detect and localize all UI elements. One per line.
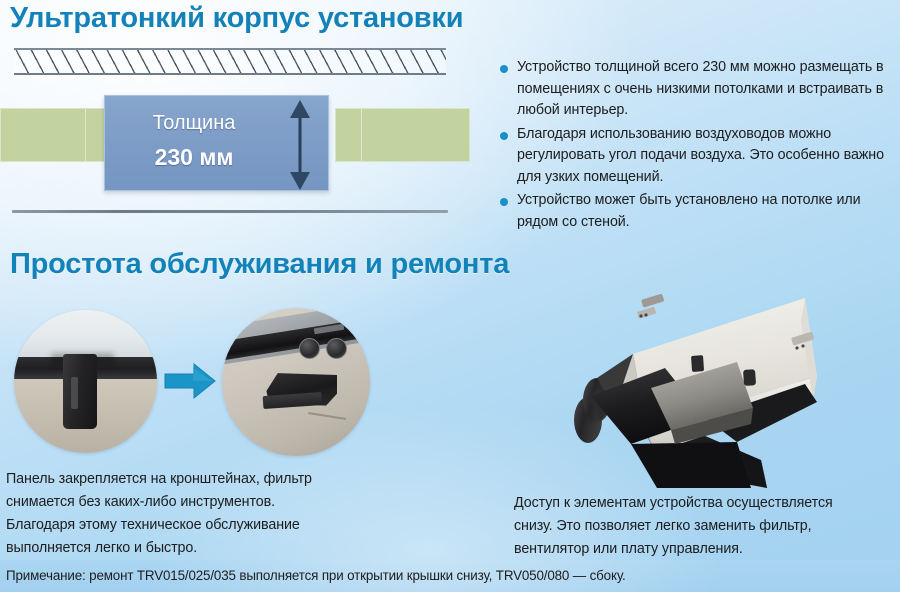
slide-canvas: Ультратонкий корпус установки Толщина 23… bbox=[0, 0, 900, 592]
bullet-dot-icon bbox=[500, 132, 508, 140]
list-item: Благодаря использованию воздуховодов мож… bbox=[500, 124, 892, 189]
section-heading-ultrathin: Ультратонкий корпус установки bbox=[10, 2, 463, 35]
list-item: Устройство толщиной всего 230 мм можно р… bbox=[500, 57, 892, 122]
caption-line: Панель закрепляется на кронштейнах, филь… bbox=[6, 468, 426, 491]
floor-line bbox=[12, 210, 448, 213]
photo-knob bbox=[299, 338, 320, 359]
bullet-text: Устройство толщиной всего 230 мм можно р… bbox=[517, 57, 892, 122]
service-caption-left: Панель закрепляется на кронштейнах, филь… bbox=[6, 468, 426, 560]
thickness-double-arrow-icon bbox=[285, 100, 315, 190]
caption-line: Доступ к элементам устройства осуществля… bbox=[514, 492, 894, 515]
section-heading-service: Простота обслуживания и ремонта bbox=[10, 248, 509, 281]
ultrathin-bullet-list: Устройство толщиной всего 230 мм можно р… bbox=[500, 57, 892, 235]
bullet-dot-icon bbox=[500, 198, 508, 206]
thickness-label: Толщина bbox=[119, 110, 269, 136]
bullet-dot-icon bbox=[500, 65, 508, 73]
photo-clip-notch bbox=[71, 377, 78, 408]
caption-line: снизу. Это позволяет легко заменить филь… bbox=[514, 515, 894, 538]
air-duct-left bbox=[0, 108, 120, 162]
air-duct-right bbox=[335, 108, 470, 162]
unit-thickness-box: Толщина 230 мм bbox=[104, 95, 329, 191]
panel-bracket-closed-photo bbox=[14, 310, 157, 453]
caption-line: Благодаря этому техническое обслуживание bbox=[6, 514, 426, 537]
ventilation-unit-photo bbox=[505, 292, 895, 492]
duct-seam bbox=[85, 109, 86, 161]
footnote-text: Примечание: ремонт TRV015/025/035 выполн… bbox=[6, 566, 626, 586]
service-caption-right: Доступ к элементам устройства осуществля… bbox=[514, 492, 894, 561]
bullet-text: Устройство может быть установлено на пот… bbox=[517, 190, 892, 233]
caption-line: вентилятор или плату управления. bbox=[514, 538, 894, 561]
list-item: Устройство может быть установлено на пот… bbox=[500, 190, 892, 233]
photo-knob bbox=[326, 338, 347, 359]
flow-arrow-icon bbox=[163, 362, 217, 400]
duct-seam bbox=[361, 109, 362, 161]
thickness-diagram: Толщина 230 мм bbox=[0, 42, 470, 220]
caption-line: снимается без каких-либо инструментов. bbox=[6, 491, 426, 514]
panel-bracket-open-photo bbox=[222, 308, 370, 456]
caption-line: выполняется легко и быстро. bbox=[6, 537, 426, 560]
photo-bracket-clip bbox=[63, 354, 97, 428]
thickness-value: 230 мм bbox=[119, 143, 269, 171]
bullet-text: Благодаря использованию воздуховодов мож… bbox=[517, 124, 892, 189]
ceiling-hatch-icon bbox=[14, 48, 446, 75]
